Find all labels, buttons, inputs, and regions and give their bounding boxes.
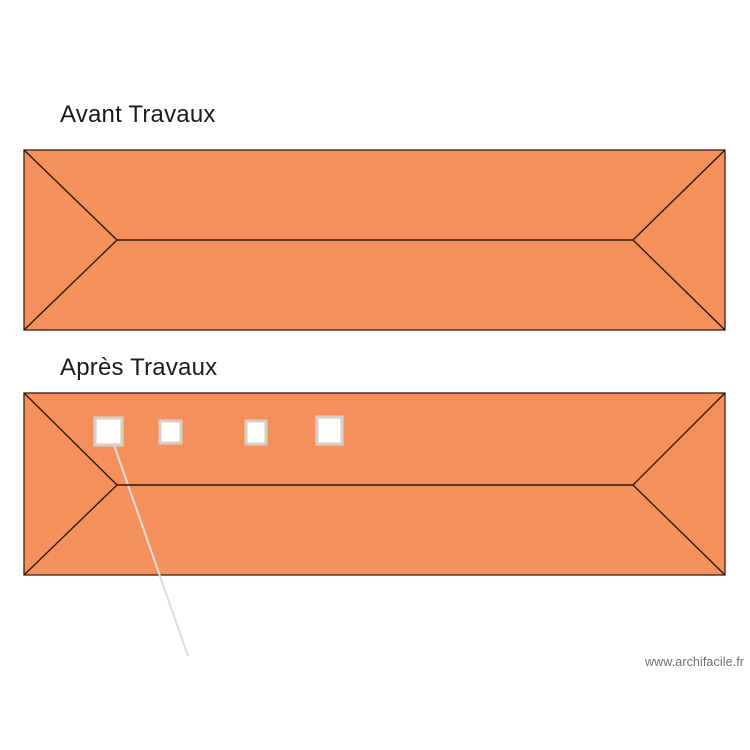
plan-canvas: Avant Travaux Après Travaux <box>0 0 750 750</box>
skylight-window-1[interactable] <box>95 418 122 445</box>
skylight-window-4[interactable] <box>317 417 342 444</box>
skylight-window-2[interactable] <box>160 421 181 443</box>
label-apres-travaux: Après Travaux <box>60 354 217 381</box>
skylight-window-3[interactable] <box>246 421 266 444</box>
section-after: Après Travaux <box>24 354 725 656</box>
roof-before[interactable] <box>24 150 725 330</box>
roof-outline-after[interactable] <box>24 393 725 575</box>
watermark-archifacile: www.archifacile.fr <box>644 655 744 669</box>
section-before: Avant Travaux <box>24 101 725 330</box>
label-avant-travaux: Avant Travaux <box>60 101 216 128</box>
roof-plan-drawing: Avant Travaux Après Travaux <box>0 0 750 750</box>
roof-after[interactable] <box>24 393 725 656</box>
